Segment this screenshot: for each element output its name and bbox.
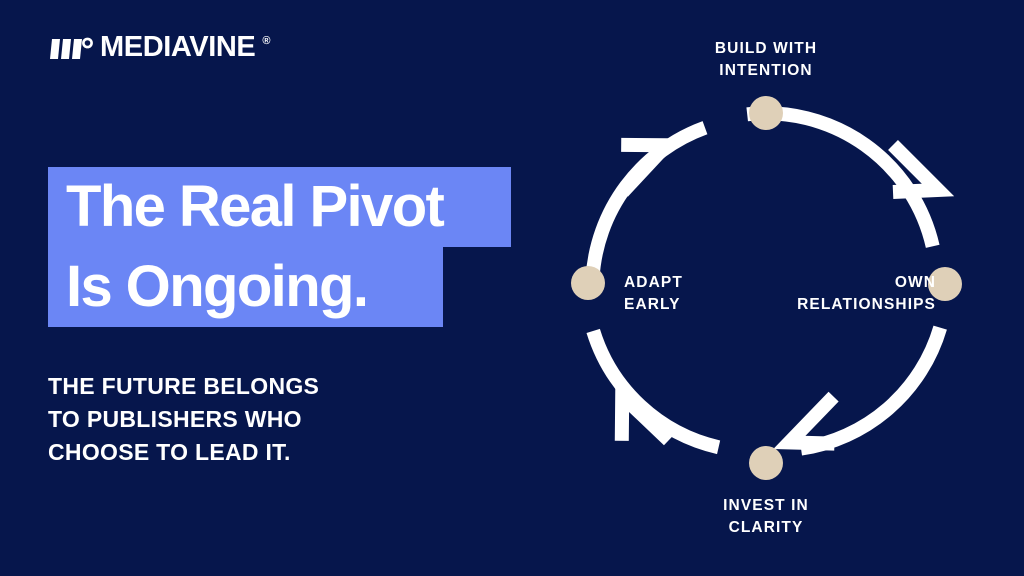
headline-line-1: The Real Pivot [48, 167, 511, 247]
mediavine-bars-icon [48, 32, 94, 62]
mediavine-logo: MEDIAVINE ® [48, 32, 271, 62]
cycle-label-left-line-2: EARLY [624, 294, 683, 316]
slide-canvas: MEDIAVINE ® The Real Pivot Is Ongoing. T… [0, 0, 1024, 576]
cycle-label-right-line-1: OWN [797, 272, 936, 294]
cycle-label-right-line-2: RELATIONSHIPS [797, 294, 936, 316]
cycle-label-own-relationships: OWN RELATIONSHIPS [797, 272, 936, 316]
arc-bottom-right [801, 328, 940, 449]
cycle-label-invest-in-clarity: INVEST IN CLARITY [548, 495, 984, 539]
arrowhead-top-left-icon [621, 143, 668, 192]
cycle-label-adapt-early: ADAPT EARLY [624, 272, 683, 316]
cycle-label-top-line-2: INTENTION [548, 60, 984, 82]
node-left [571, 266, 605, 300]
cycle-label-bottom-line-1: INVEST IN [548, 495, 984, 517]
node-bottom [749, 446, 783, 480]
subtitle-line-2: TO PUBLISHERS WHO [48, 403, 319, 436]
logo-wordmark: MEDIAVINE [100, 33, 255, 62]
subtitle: THE FUTURE BELONGS TO PUBLISHERS WHO CHO… [48, 370, 319, 469]
cycle-label-top-line-1: BUILD WITH [548, 38, 984, 60]
node-top [749, 96, 783, 130]
subtitle-line-3: CHOOSE TO LEAD IT. [48, 436, 319, 469]
headline-line-2: Is Ongoing. [48, 247, 443, 327]
page-title: The Real Pivot Is Ongoing. [48, 167, 511, 327]
registered-trademark-icon: ® [262, 36, 270, 47]
arrowhead-bottom-right-icon [789, 397, 835, 445]
cycle-label-build-with-intention: BUILD WITH INTENTION [548, 38, 984, 82]
subtitle-line-1: THE FUTURE BELONGS [48, 370, 319, 403]
cycle-label-left-line-1: ADAPT [624, 272, 683, 294]
arc-top-right [747, 113, 933, 246]
cycle-label-bottom-line-2: CLARITY [548, 517, 984, 539]
cycle-diagram: BUILD WITH INTENTION OWN RELATIONSHIPS I… [548, 20, 984, 556]
